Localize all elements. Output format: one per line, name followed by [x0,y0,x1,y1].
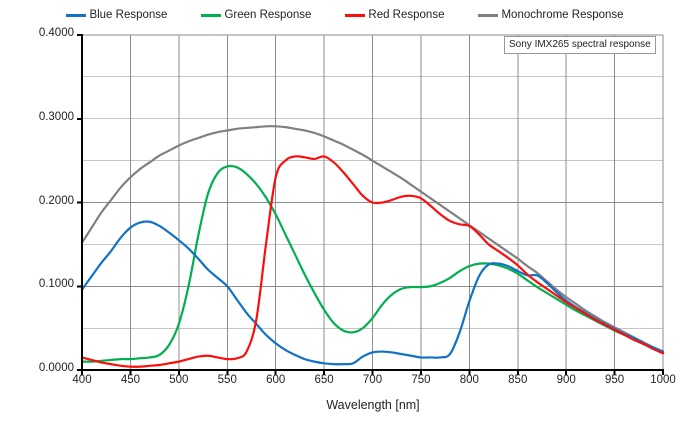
legend-item-blue-response[interactable]: Blue Response [66,9,167,21]
x-tick-label: 650 [302,374,346,386]
x-tick-label: 700 [351,374,395,386]
x-tick-label: 900 [544,374,588,386]
x-tick-label: 600 [254,374,298,386]
x-tick-label: 800 [447,374,491,386]
legend-label-monochrome-response: Monochrome Response [501,9,623,21]
legend-swatch-green-icon [201,14,221,17]
legend-label-blue-response: Blue Response [89,9,167,21]
legend-label-green-response: Green Response [224,9,311,21]
y-tick-label: 0.0000 [26,362,74,374]
y-tick-label: 0.1000 [26,278,74,290]
x-tick-label: 450 [108,374,152,386]
legend-item-green-response[interactable]: Green Response [201,9,311,21]
x-tick-label: 950 [593,374,637,386]
spectral-response-chart: Blue Response Green Response Red Respons… [0,0,690,428]
y-tick-label: 0.2000 [26,195,74,207]
plot-area [0,0,690,428]
x-tick-label: 1000 [641,374,685,386]
legend-swatch-monochrome-icon [478,14,498,17]
legend-label-red-response: Red Response [368,9,444,21]
x-tick-label: 550 [205,374,249,386]
x-tick-label: 750 [399,374,443,386]
chart-legend: Blue Response Green Response Red Respons… [0,4,690,26]
x-axis-title: Wavelength [nm] [82,398,664,412]
y-axis-tick-labels: 0.00000.10000.20000.30000.4000 [22,0,74,428]
legend-item-monochrome-response[interactable]: Monochrome Response [478,9,623,21]
y-tick-label: 0.3000 [26,111,74,123]
chart-annotation-box: Sony IMX265 spectral response [504,36,656,54]
x-tick-label: 850 [496,374,540,386]
legend-item-red-response[interactable]: Red Response [345,9,444,21]
x-tick-label: 400 [60,374,104,386]
x-tick-label: 500 [157,374,201,386]
y-tick-label: 0.4000 [26,27,74,39]
x-axis-tick-labels: 4004505005506006507007508008509009501000 [0,374,690,394]
legend-swatch-red-icon [345,14,365,17]
